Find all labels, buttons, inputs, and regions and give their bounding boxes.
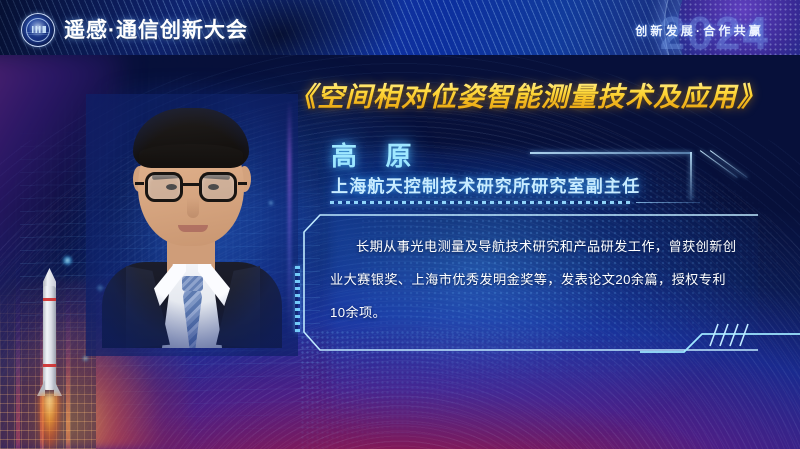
emblem-inner-graphic — [26, 18, 50, 42]
header-band: 2024 遥感·通信创新大会 创新发展·合作共赢 — [0, 0, 800, 55]
glasses-bridge — [183, 183, 199, 186]
glasses-lens-left — [145, 172, 183, 202]
rocket-stripe — [43, 298, 56, 301]
portrait-tie-knot — [182, 276, 203, 291]
portrait-glasses — [144, 172, 238, 204]
conference-title: 遥感·通信创新大会 — [64, 14, 248, 44]
name-rule-horizontal — [530, 152, 690, 154]
slash-decoration — [700, 148, 770, 178]
conference-emblem-icon — [21, 13, 55, 47]
speaker-name: 高 原 — [331, 136, 423, 173]
circuit-line-decoration — [640, 318, 800, 378]
rocket-stripe — [43, 364, 56, 367]
glasses-lens-right — [199, 172, 237, 202]
rocket-flame — [38, 394, 61, 449]
conference-speaker-slide: 2024 遥感·通信创新大会 创新发展·合作共赢 《空间相对位姿智能测量技术及应… — [0, 0, 800, 449]
rocket-body — [43, 286, 56, 390]
portrait-mouth — [178, 225, 208, 232]
launch-rocket-graphic — [36, 268, 62, 408]
name-rule-vertical — [690, 152, 692, 200]
conference-slogan: 创新发展·合作共赢 — [635, 22, 764, 39]
speaker-portrait — [104, 106, 280, 346]
presentation-title: 《空间相对位姿智能测量技术及应用》 — [292, 76, 762, 112]
glasses-temple-left — [135, 182, 144, 185]
speaker-bio-text: 长期从事光电测量及导航技术研究和产品研发工作，曾获创新创业大赛银奖、上海市优秀发… — [330, 230, 738, 329]
vertical-light-beam — [288, 100, 291, 340]
glasses-temple-right — [238, 182, 247, 185]
speaker-role: 上海航天控制技术研究所研究室副主任 — [331, 172, 640, 197]
role-rule — [636, 202, 700, 203]
role-dashed-underline — [330, 201, 630, 204]
